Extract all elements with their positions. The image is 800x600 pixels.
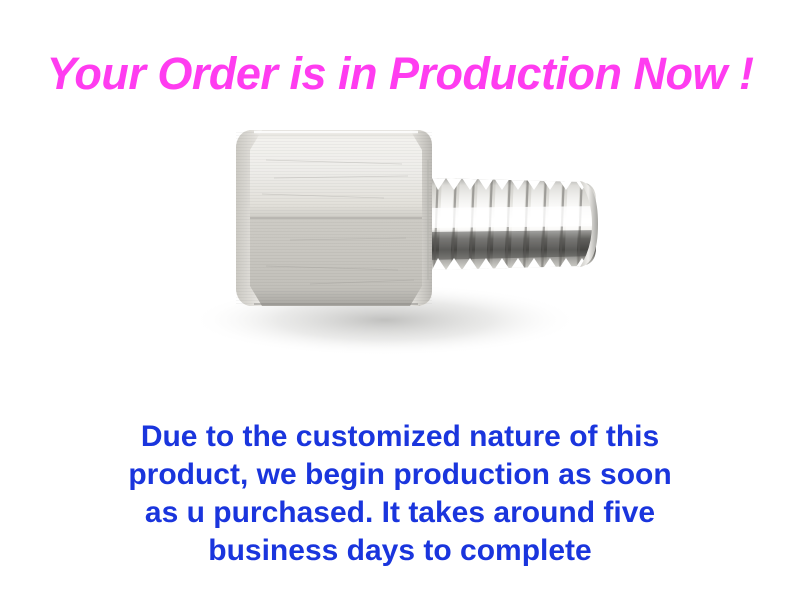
hex-body bbox=[236, 130, 432, 306]
production-notice-text: Due to the customized nature of this pro… bbox=[60, 418, 740, 570]
notice-line-3: as u purchased. It takes around five bbox=[60, 494, 740, 532]
page-title: Your Order is in Production Now ! bbox=[0, 48, 800, 100]
notice-line-1: Due to the customized nature of this bbox=[60, 418, 740, 456]
hex-adapter-fitting-illustration bbox=[170, 120, 640, 410]
notice-line-2: product, we begin production as soon bbox=[60, 456, 740, 494]
notice-line-4: business days to complete bbox=[60, 532, 740, 570]
threaded-section bbox=[428, 164, 600, 286]
product-photo bbox=[170, 120, 640, 410]
promo-banner: Your Order is in Production Now ! bbox=[0, 0, 800, 600]
